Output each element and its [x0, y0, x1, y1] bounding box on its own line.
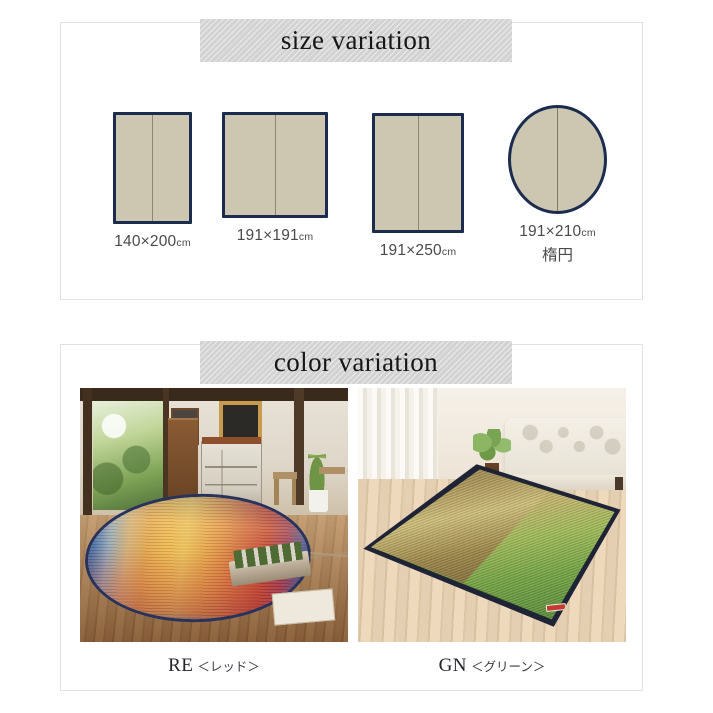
product-photo-red: [80, 388, 348, 642]
size-unit: cm: [299, 231, 313, 243]
color-option-re[interactable]: RE＜レッド＞: [80, 388, 348, 677]
color-code: RE: [168, 655, 193, 676]
rug-diagram-rect: [222, 112, 328, 218]
wooden-stool-2: [319, 467, 346, 475]
rug-diagram-rect: [113, 112, 192, 224]
size-dimension: 140×200: [114, 233, 176, 250]
color-name-jp: ＜グリーン＞: [471, 659, 545, 674]
rug-seam-line: [557, 108, 558, 211]
size-label: 140×200cm: [114, 233, 191, 251]
size-label: 191×210cm: [519, 223, 596, 241]
wooden-cabinet: [168, 418, 197, 496]
size-unit: cm: [581, 227, 595, 239]
size-dimension: 191×250: [380, 242, 442, 259]
white-tufted-sofa: [505, 418, 626, 484]
stool-leg-1: [274, 479, 278, 504]
size-option-191x250: 191×250cm: [372, 113, 464, 260]
size-dimension: 191×210: [519, 223, 581, 240]
room-scene-living: [358, 388, 626, 642]
color-variation-banner: color variation: [200, 341, 512, 384]
color-option-gn[interactable]: GN＜グリーン＞: [358, 388, 626, 677]
size-shape-label: 楕円: [542, 243, 573, 265]
color-caption-re: RE＜レッド＞: [80, 655, 348, 677]
size-unit: cm: [176, 237, 190, 249]
rug-diagram-oval: [508, 105, 607, 214]
color-name-jp: ＜レッド＞: [197, 659, 260, 674]
garden-view: [93, 398, 163, 510]
rug-seam-line: [418, 116, 419, 230]
size-label: 191×250cm: [380, 242, 457, 260]
color-caption-gn: GN＜グリーン＞: [358, 655, 626, 677]
rug-diagram-rect: [372, 113, 464, 233]
stool-leg-2: [292, 479, 296, 504]
size-option-191x210-oval: 191×210cm 楕円: [508, 105, 607, 265]
size-option-191x191: 191×191cm: [222, 112, 328, 245]
sofa-leg-2: [615, 477, 623, 490]
ceiling-lintel: [80, 388, 348, 401]
product-photo-green: [358, 388, 626, 642]
rug-seam-line: [152, 115, 153, 221]
size-unit: cm: [442, 246, 456, 258]
room-scene-japanese: [80, 388, 348, 642]
color-variation-title: color variation: [274, 349, 438, 376]
size-dimension: 191×191: [237, 227, 299, 244]
wooden-stool-1: [273, 472, 297, 480]
color-code: GN: [439, 655, 467, 676]
size-option-140x200: 140×200cm: [113, 112, 192, 251]
size-variation-banner: size variation: [200, 19, 512, 62]
size-label: 191×191cm: [237, 227, 314, 245]
size-variation-title: size variation: [281, 27, 431, 54]
rug-seam-line: [275, 115, 276, 215]
dried-pampas-grass: [310, 505, 348, 607]
door-beam-left: [83, 388, 92, 528]
